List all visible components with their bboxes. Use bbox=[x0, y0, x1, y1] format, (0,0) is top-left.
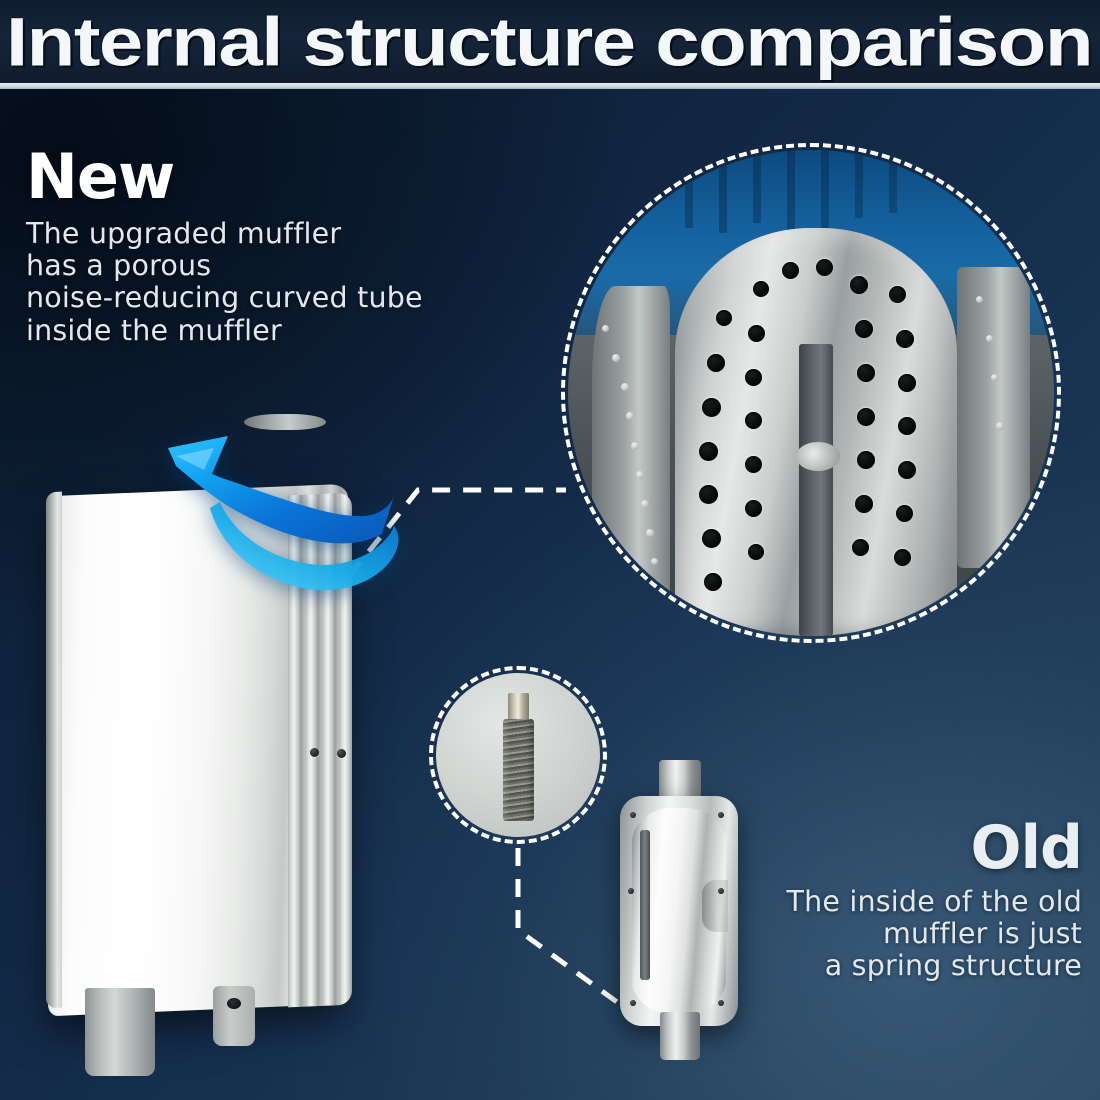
old-muffler-rivet bbox=[630, 812, 636, 818]
new-muffler-mounting-hole bbox=[227, 998, 241, 1009]
tube-weld-spot bbox=[796, 442, 840, 471]
spring-structure-photo bbox=[436, 673, 600, 837]
blue-swoosh-arrow bbox=[150, 430, 420, 610]
perforated-curved-tube-photo bbox=[568, 150, 1054, 636]
new-muffler-screw bbox=[337, 749, 346, 758]
callout-small-circle bbox=[429, 666, 607, 844]
old-muffler-body-notch bbox=[702, 880, 728, 932]
old-muffler-rivet bbox=[718, 888, 724, 894]
old-muffler-rivet bbox=[628, 888, 634, 894]
old-muffler-rivet bbox=[718, 812, 724, 818]
tube-center-slot bbox=[799, 344, 833, 636]
old-muffler-reflection-stripe bbox=[640, 830, 650, 980]
new-muffler-mounting-tab bbox=[213, 986, 255, 1046]
new-muffler-left-edge bbox=[46, 492, 62, 1009]
connector-small-circle-to-old bbox=[518, 848, 628, 1010]
callout-large-circle bbox=[561, 143, 1061, 643]
new-muffler-screw bbox=[310, 748, 319, 757]
old-muffler-bottom-pipe bbox=[660, 1012, 700, 1060]
old-chrome-oval-muffler bbox=[614, 760, 744, 1060]
old-muffler-rivet bbox=[718, 1000, 724, 1006]
new-muffler-outlet-rim bbox=[244, 414, 326, 430]
new-muffler-inlet-pipe bbox=[85, 988, 155, 1076]
spring-coil bbox=[503, 719, 534, 821]
old-muffler-rivet bbox=[630, 1000, 636, 1006]
infographic-canvas: Internal structure comparison New The up… bbox=[0, 0, 1100, 1100]
